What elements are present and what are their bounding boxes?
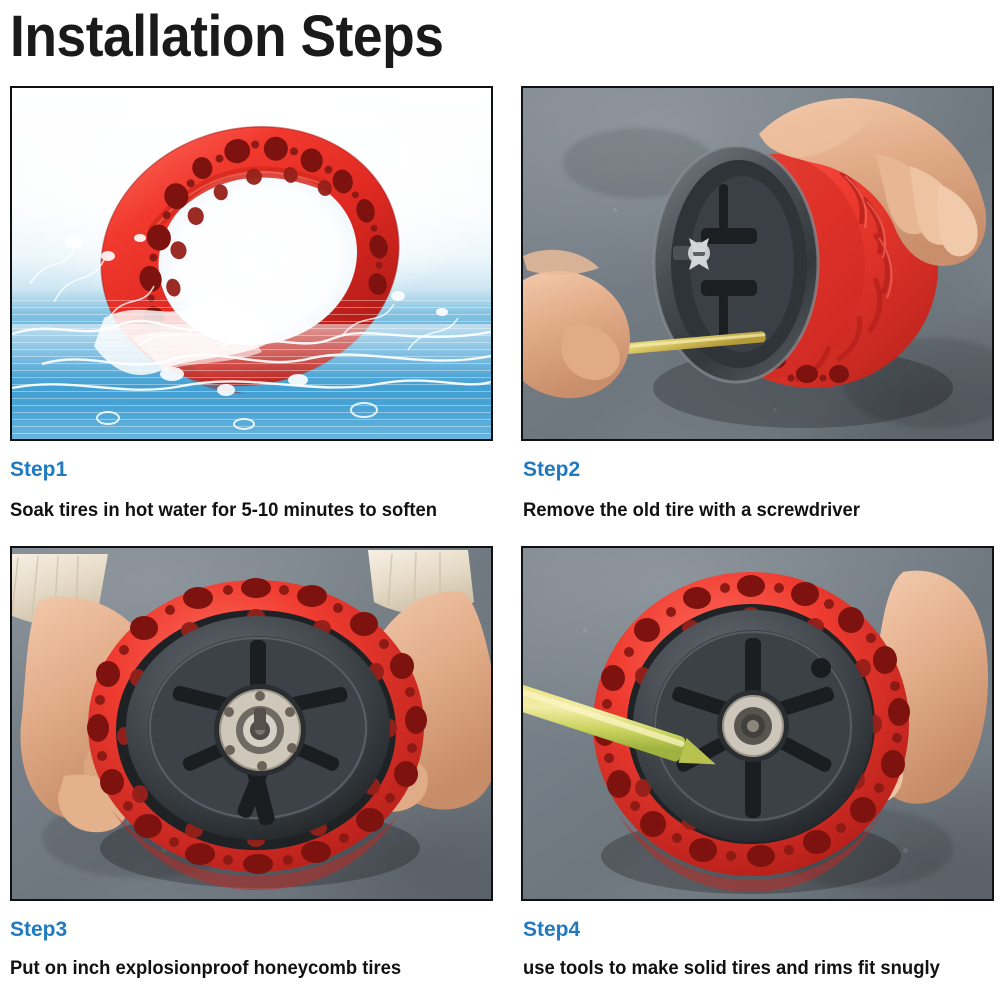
step1-image-panel (10, 86, 493, 441)
step2-label: Step2 (523, 458, 580, 482)
step3-image-panel (10, 546, 493, 901)
step3-photo (12, 548, 491, 899)
step2-photo (523, 88, 992, 439)
installation-steps-page: Installation Steps (0, 0, 1000, 1000)
step4-image-panel (521, 546, 994, 901)
step4-label: Step4 (523, 918, 580, 942)
page-title: Installation Steps (10, 6, 444, 68)
step3-caption: Put on inch explosionproof honeycomb tir… (10, 958, 401, 980)
step4-photo (523, 548, 992, 899)
step1-photo (12, 88, 491, 439)
step3-label: Step3 (10, 918, 67, 942)
step1-label: Step1 (10, 458, 67, 482)
step2-caption: Remove the old tire with a screwdriver (523, 500, 860, 522)
step4-caption: use tools to make solid tires and rims f… (523, 958, 940, 980)
step2-image-panel (521, 86, 994, 441)
step1-caption: Soak tires in hot water for 5-10 minutes… (10, 500, 437, 522)
